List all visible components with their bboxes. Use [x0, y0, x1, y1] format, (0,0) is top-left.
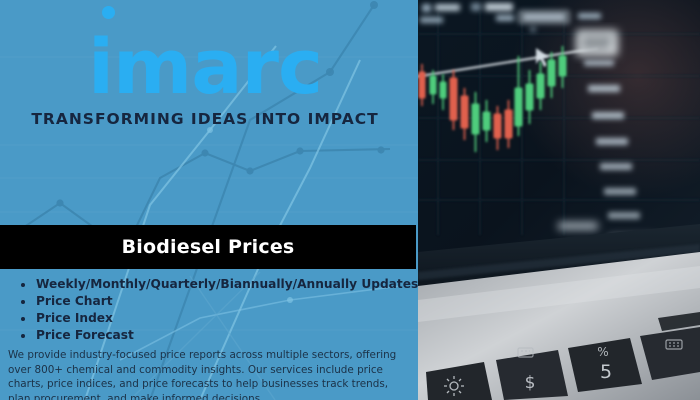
description-paragraph: We provide industry-focused price report…: [8, 348, 410, 400]
list-item: Weekly/Monthly/Quarterly/Biannually/Annu…: [32, 276, 418, 293]
logo-wordmark-text: imarc: [88, 28, 322, 106]
title-banner: Biodiesel Prices: [0, 225, 416, 269]
list-item: Price Chart: [32, 293, 418, 310]
logo-wordmark-label: imarc: [88, 22, 322, 111]
svg-text:5: 5: [600, 361, 612, 383]
svg-text:%: %: [597, 345, 608, 359]
left-content-panel: imarc TRANSFORMING IDEAS INTO IMPACT Bio…: [0, 0, 418, 400]
feature-list: Weekly/Monthly/Quarterly/Biannually/Annu…: [12, 276, 418, 344]
list-item: Price Forecast: [32, 327, 418, 344]
brand-logo: imarc TRANSFORMING IDEAS INTO IMPACT: [0, 28, 410, 128]
page-title: Biodiesel Prices: [122, 236, 295, 258]
price-report-banner-image: imarc TRANSFORMING IDEAS INTO IMPACT Bio…: [0, 0, 700, 400]
logo-dot-icon: [102, 6, 115, 19]
brand-tagline: TRANSFORMING IDEAS INTO IMPACT: [0, 110, 410, 128]
list-item: Price Index: [32, 310, 418, 327]
laptop-photo-illustration: $ % 5: [418, 0, 700, 400]
svg-text:$: $: [525, 373, 536, 393]
laptop-trading-chart-photo: $ % 5: [418, 0, 700, 400]
